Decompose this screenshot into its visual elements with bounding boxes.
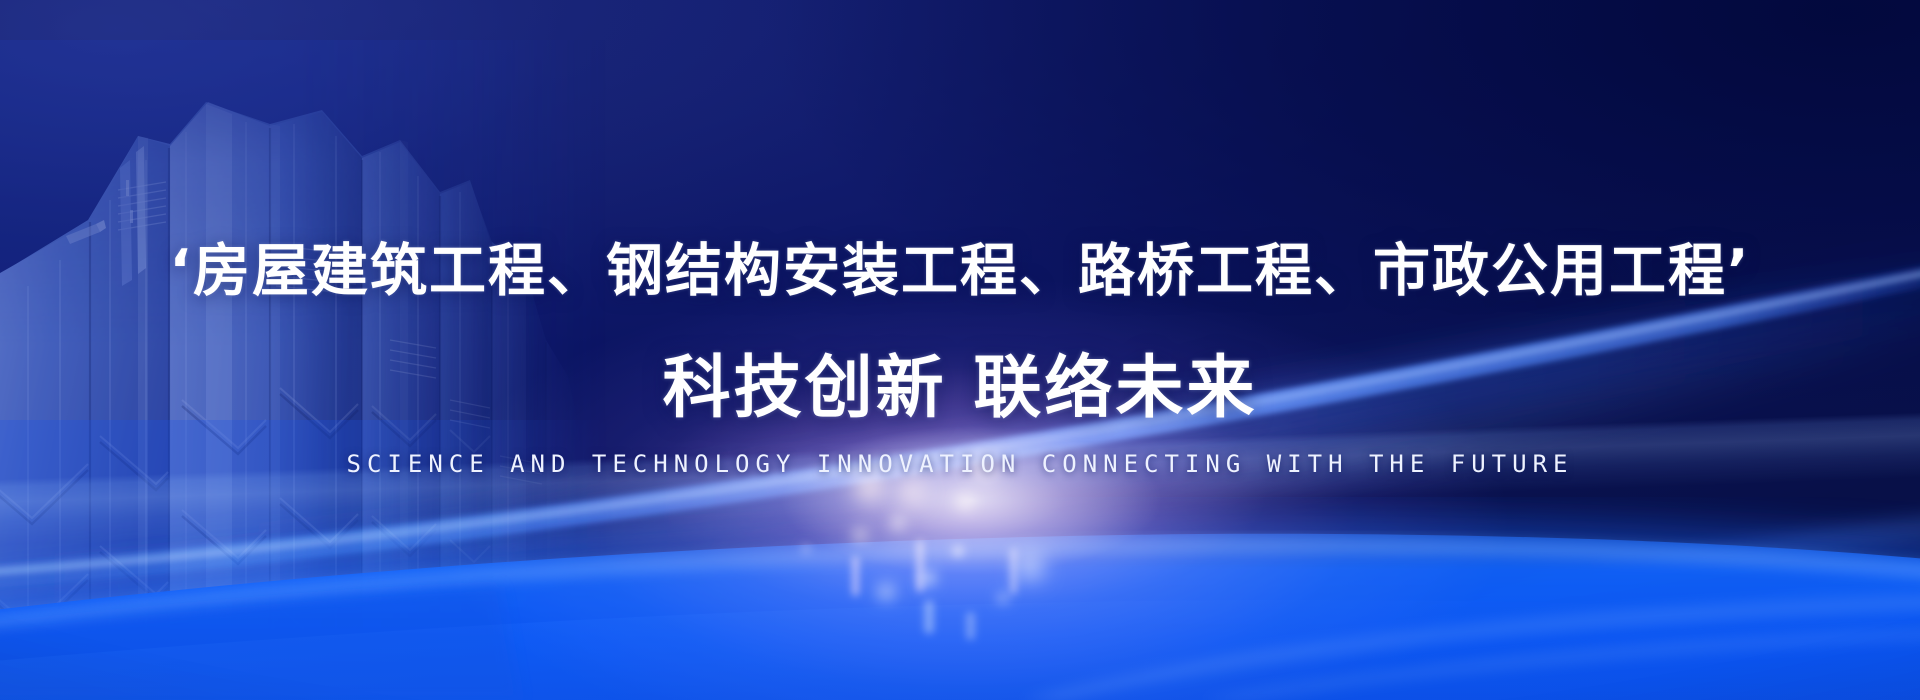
subtitle-english: SCIENCE AND TECHNOLOGY INNOVATION CONNEC… (0, 452, 1920, 476)
promo-banner: ‘房屋建筑工程、钢结构安装工程、路桥工程、市政公用工程’ 科技创新 联络未来 S… (0, 0, 1920, 700)
headline-quote-line: ‘房屋建筑工程、钢结构安装工程、路桥工程、市政公用工程’ (0, 243, 1920, 300)
headline-main-slogan: 科技创新 联络未来 (0, 355, 1920, 423)
